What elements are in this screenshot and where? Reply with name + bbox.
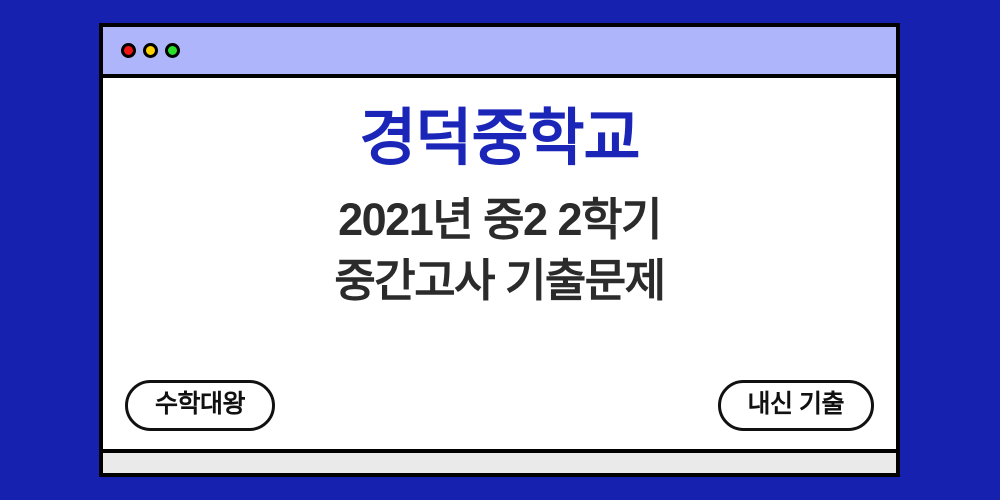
badge-category[interactable]: 내신 기출 <box>718 380 874 431</box>
maximize-dot-icon[interactable] <box>165 43 180 58</box>
window-titlebar <box>103 27 896 78</box>
subtitle-line-1: 2021년 중2 2학기 <box>103 191 896 250</box>
poster-canvas: 경덕중학교 2021년 중2 2학기 중간고사 기출문제 수학대왕 내신 기출 <box>0 0 1000 500</box>
window-footer-bar <box>103 449 896 473</box>
close-dot-icon[interactable] <box>121 43 136 58</box>
badge-row: 수학대왕 내신 기출 <box>125 380 874 431</box>
window-content: 경덕중학교 2021년 중2 2학기 중간고사 기출문제 수학대왕 내신 기출 <box>103 78 896 449</box>
app-window-mockup: 경덕중학교 2021년 중2 2학기 중간고사 기출문제 수학대왕 내신 기출 <box>99 23 900 477</box>
subtitle-line-2: 중간고사 기출문제 <box>103 252 896 311</box>
window-control-dots <box>121 43 180 58</box>
headline-block: 경덕중학교 2021년 중2 2학기 중간고사 기출문제 <box>103 104 896 310</box>
school-name-title: 경덕중학교 <box>103 104 896 173</box>
minimize-dot-icon[interactable] <box>143 43 158 58</box>
badge-brand[interactable]: 수학대왕 <box>125 380 275 431</box>
